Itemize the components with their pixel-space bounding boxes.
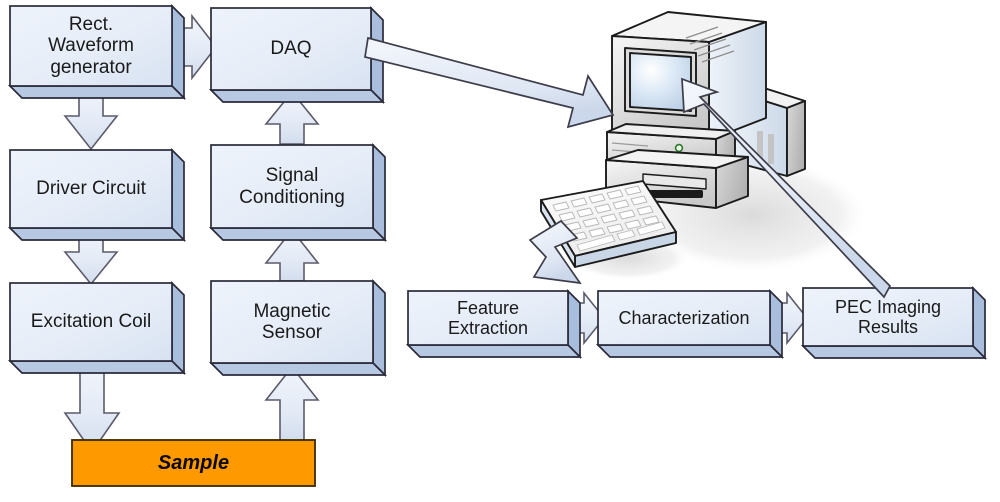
block-characterization[interactable] [598, 291, 782, 357]
block-feature-extraction[interactable] [408, 291, 580, 357]
power-led-icon [676, 145, 683, 152]
connection-sample-to-sensor [266, 367, 318, 441]
connection-coil-to-sample [65, 361, 119, 452]
block-rect-waveform-generator[interactable] [10, 6, 184, 98]
connection-daq-to-computer [365, 38, 613, 127]
block-driver-circuit[interactable] [10, 150, 184, 240]
diagram-vector-layer [0, 0, 1000, 502]
block-daq[interactable] [211, 8, 383, 102]
block-signal-conditioning[interactable] [211, 145, 385, 240]
block-pec-imaging-results[interactable] [803, 288, 985, 358]
block-excitation-coil[interactable] [10, 283, 184, 373]
block-magnetic-sensor[interactable] [211, 281, 385, 375]
block-label-sample: Sample [72, 440, 315, 486]
diagram-canvas: Rect. Waveform generator DAQ Driver Circ… [0, 0, 1000, 502]
